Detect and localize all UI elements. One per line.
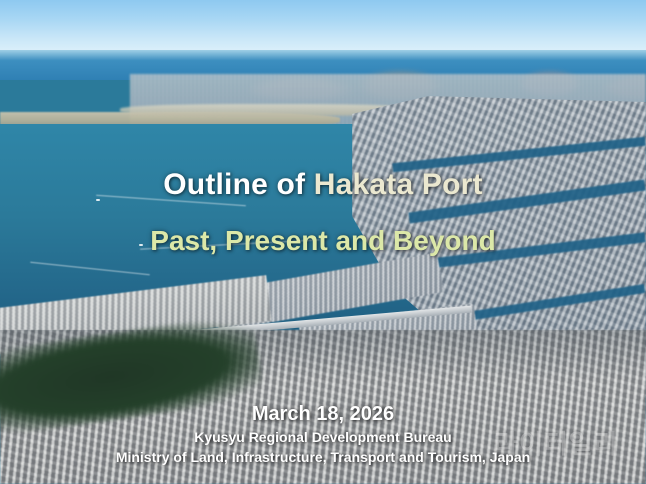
slide-footer: March 18, 2026 Kyusyu Regional Developme… (0, 402, 646, 468)
presentation-date: March 18, 2026 (0, 402, 646, 427)
slide-subtitle: Past, Present and Beyond (0, 226, 646, 257)
title-plain: Outline of (163, 168, 314, 201)
title-slide: Outline of Hakata Port Past, Present and… (0, 0, 646, 484)
title-highlight: Hakata Port (314, 168, 483, 201)
bureau-name: Kyusyu Regional Development Bureau (0, 427, 646, 447)
slide-title: Outline of Hakata Port (0, 168, 646, 201)
text-layer: Outline of Hakata Port Past, Present and… (0, 0, 646, 484)
ministry-name: Ministry of Land, Infrastructure, Transp… (0, 447, 646, 467)
